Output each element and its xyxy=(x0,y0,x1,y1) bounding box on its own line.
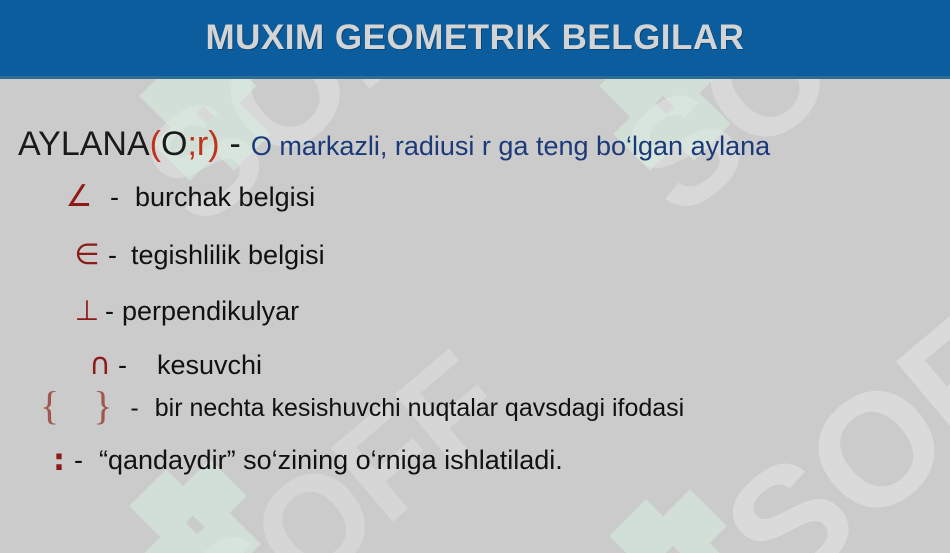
angle-dash: - xyxy=(110,182,119,213)
symbol-row-colon: : - “qandaydir” so‘zining o‘rniga ishlat… xyxy=(52,442,563,477)
colon-symbol-icon: : xyxy=(52,443,66,478)
colon-label: “qandaydir” so‘zining o‘rniga ishlatilad… xyxy=(99,445,563,476)
symbol-row-element-of: ∈ - tegishlilik belgisi xyxy=(72,237,325,271)
braces-dash: - xyxy=(130,394,138,423)
curly-brace-close-icon: } xyxy=(93,394,112,418)
content-area: AYLANA(O;r) - O markazli, radiusi r ga t… xyxy=(0,79,950,553)
angle-label: burchak belgisi xyxy=(135,182,315,213)
intersection-symbol-icon: ∩ xyxy=(86,347,114,382)
slide-canvas: SOFF SOFF SOFF SOFF xyxy=(0,0,950,553)
element-of-dash: - xyxy=(108,240,117,271)
definition-radius: ;r) xyxy=(187,125,219,164)
page-title: MUXIM GEOMETRIK BELGILAR xyxy=(0,0,950,76)
definition-description: O markazli, radiusi r ga teng bo‘lgan ay… xyxy=(251,131,770,162)
symbol-row-intersection: ∩ - kesuvchi xyxy=(86,347,262,382)
definition-term-prefix: AYLANA xyxy=(18,125,150,164)
symbol-row-perpendicular: ⊥ - perpendikulyar xyxy=(73,294,299,327)
element-of-symbol-icon: ∈ xyxy=(72,237,102,271)
intersection-dash: - xyxy=(118,350,127,381)
intersection-label: kesuvchi xyxy=(157,350,262,381)
symbol-row-angle: ∠ - burchak belgisi xyxy=(62,179,315,214)
definition-open-paren: ( xyxy=(150,125,161,164)
perpendicular-dash: - xyxy=(105,296,114,327)
element-of-label: tegishlilik belgisi xyxy=(131,240,325,271)
definition-line: AYLANA(O;r) - O markazli, radiusi r ga t… xyxy=(18,125,770,164)
colon-dash: - xyxy=(74,445,83,476)
angle-symbol-icon: ∠ xyxy=(62,179,96,214)
definition-center-point: O xyxy=(161,125,187,164)
braces-label: bir nechta kesishuvchi nuqtalar qavsdagi… xyxy=(155,394,684,423)
perpendicular-symbol-icon: ⊥ xyxy=(73,294,101,327)
curly-brace-open-icon: { xyxy=(40,394,59,418)
definition-dash: - xyxy=(230,125,241,164)
symbol-row-braces: { } - bir nechta kesishuvchi nuqtalar qa… xyxy=(40,391,684,423)
perpendicular-label: perpendikulyar xyxy=(122,296,299,327)
